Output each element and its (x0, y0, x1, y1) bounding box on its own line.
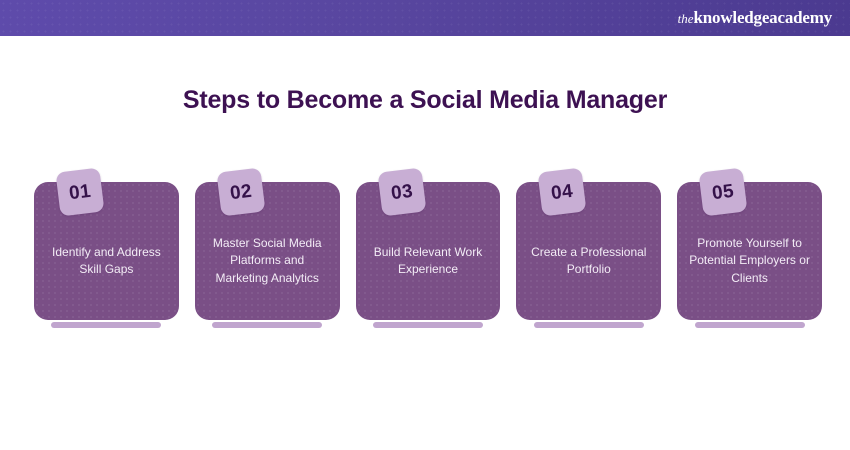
step-card-body: Promote Yourself to Potential Employers … (677, 182, 822, 320)
step-card-text: Identify and Address Skill Gaps (44, 244, 169, 278)
step-card-text: Create a Professional Portfolio (526, 244, 651, 278)
step-number-badge: 04 (538, 167, 587, 216)
step-number: 02 (229, 181, 253, 203)
page-title: Steps to Become a Social Media Manager (0, 86, 850, 115)
step-card-text: Master Social Media Platforms and Market… (205, 235, 330, 286)
step-card-body: Create a Professional Portfolio (516, 182, 661, 320)
step-card-text: Promote Yourself to Potential Employers … (687, 235, 812, 286)
step-card-03[interactable]: Build Relevant Work Experience 03 (356, 182, 501, 328)
brand-prefix: the (678, 11, 694, 26)
step-card-04[interactable]: Create a Professional Portfolio 04 (516, 182, 661, 328)
step-card-body: Build Relevant Work Experience (356, 182, 501, 320)
step-card-bar (51, 322, 161, 328)
step-number-badge: 03 (377, 167, 426, 216)
step-number: 05 (711, 181, 735, 203)
step-number: 01 (68, 181, 92, 203)
step-card-02[interactable]: Master Social Media Platforms and Market… (195, 182, 340, 328)
step-card-body: Identify and Address Skill Gaps (34, 182, 179, 320)
step-number: 03 (390, 181, 414, 203)
step-number-badge: 05 (699, 167, 748, 216)
step-card-bar (212, 322, 322, 328)
brand-name: knowledgeacademy (694, 8, 832, 27)
infographic-page: theknowledgeacademy Steps to Become a So… (0, 0, 850, 450)
step-number-badge: 02 (216, 167, 265, 216)
step-card-05[interactable]: Promote Yourself to Potential Employers … (677, 182, 822, 328)
step-card-01[interactable]: Identify and Address Skill Gaps 01 (34, 182, 179, 328)
step-card-bar (534, 322, 644, 328)
step-card-bar (373, 322, 483, 328)
step-card-body: Master Social Media Platforms and Market… (195, 182, 340, 320)
step-number-badge: 01 (55, 167, 104, 216)
brand-logo: theknowledgeacademy (678, 9, 832, 27)
step-card-bar (695, 322, 805, 328)
step-number: 04 (550, 181, 574, 203)
header-bar: theknowledgeacademy (0, 0, 850, 36)
step-card-text: Build Relevant Work Experience (366, 244, 491, 278)
steps-row: Identify and Address Skill Gaps 01 Maste… (34, 182, 822, 328)
